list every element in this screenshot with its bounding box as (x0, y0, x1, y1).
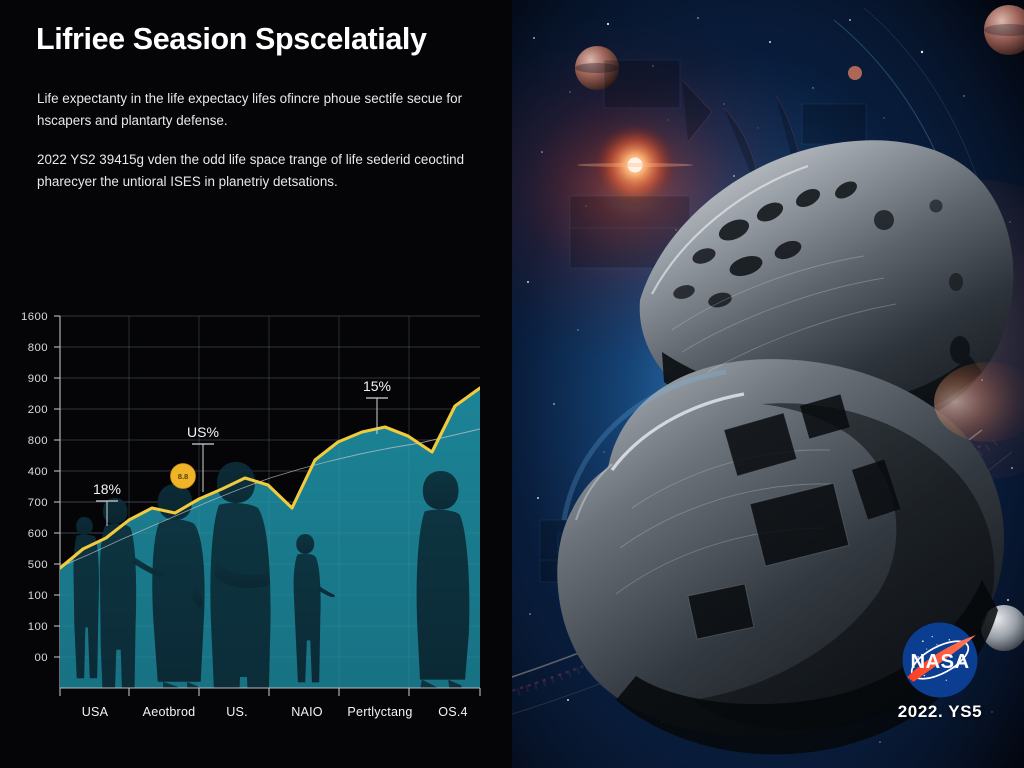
left-content-panel: Lifriee Seasion Spscelatialy Life expect… (0, 0, 512, 768)
y-tick-label: 600 (28, 528, 48, 540)
callout-label: 18% (93, 481, 121, 497)
x-tick-label: OS.4 (438, 705, 468, 719)
nasa-wordmark: NASA (911, 651, 970, 673)
callout-label: US% (187, 424, 219, 440)
y-tick-label: 800 (28, 342, 48, 354)
nasa-caption: 2022. YS5 (891, 702, 989, 722)
y-tick-label: 400 (28, 466, 48, 478)
callout-label: 15% (363, 378, 391, 394)
page-title: Lifriee Seasion Spscelatialy (36, 22, 488, 56)
y-tick-label: 500 (28, 559, 48, 571)
y-tick-label: 700 (28, 497, 48, 509)
nasa-meatball-logo: NASA (901, 621, 979, 699)
x-tick-label: US. (226, 705, 248, 719)
area-chart: 1600 800 900 200 800 400 700 600 500 100… (0, 286, 512, 738)
y-axis: 1600 800 900 200 800 400 700 600 500 100… (21, 311, 60, 688)
y-tick-label: 1600 (21, 311, 48, 323)
y-tick-label: 200 (28, 404, 48, 416)
body-paragraph-1: Life expectanty in the life expectacy li… (37, 88, 481, 131)
y-tick-label: 800 (28, 435, 48, 447)
y-tick-label: 900 (28, 373, 48, 385)
body-paragraph-2: 2022 YS2 39415g vden the odd life space … (37, 149, 481, 192)
y-tick-label: 00 (35, 652, 48, 664)
x-tick-label: Pertlyctang (347, 705, 412, 719)
data-point-marker[interactable]: 8.8 (171, 464, 196, 489)
asteroid-artwork-panel: NASA 2022. YS5 (512, 0, 1024, 768)
y-tick-label: 100 (28, 590, 48, 602)
x-axis: USA Aeotbrod US. NAIO Pertlyctang OS.4 (60, 688, 480, 719)
nasa-badge: NASA 2022. YS5 (891, 621, 989, 722)
x-tick-label: Aeotbrod (143, 705, 196, 719)
marker-label: 8.8 (178, 472, 189, 481)
planet-small-mid (848, 66, 862, 80)
poster-canvas: Lifriee Seasion Spscelatialy Life expect… (0, 0, 1024, 768)
y-tick-label: 100 (28, 621, 48, 633)
x-tick-label: NAIO (291, 705, 323, 719)
x-tick-label: USA (82, 705, 109, 719)
